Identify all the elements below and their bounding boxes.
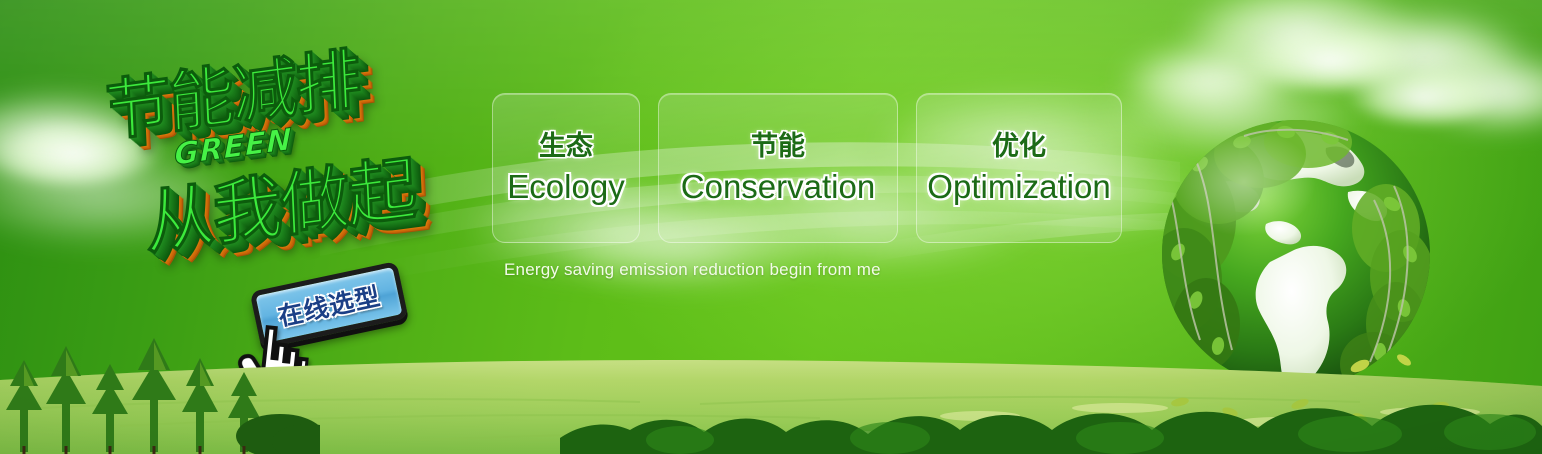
feature-card-cn-label: 优化	[992, 133, 1046, 160]
feature-cards: 生态 Ecology 节能 Conservation 优化 Optimizati…	[492, 93, 1122, 243]
banner-tagline: Energy saving emission reduction begin f…	[504, 260, 881, 280]
feature-card-en-label: Ecology	[507, 170, 624, 203]
feature-card-en-label: Optimization	[927, 170, 1110, 203]
eco-promo-banner: 节能减排 GREEN 从我做起 在线选型 生态 Ecology 节能 Conse…	[0, 0, 1542, 454]
feature-card-cn-label: 节能	[751, 133, 805, 160]
feature-card-cn-label: 生态	[539, 133, 593, 160]
cta-button-label: 在线选型	[274, 277, 383, 334]
feature-card-optimization[interactable]: 优化 Optimization	[916, 93, 1122, 243]
feature-card-conservation[interactable]: 节能 Conservation	[658, 93, 898, 243]
feature-card-en-label: Conservation	[681, 170, 875, 203]
feature-card-ecology[interactable]: 生态 Ecology	[492, 93, 640, 243]
